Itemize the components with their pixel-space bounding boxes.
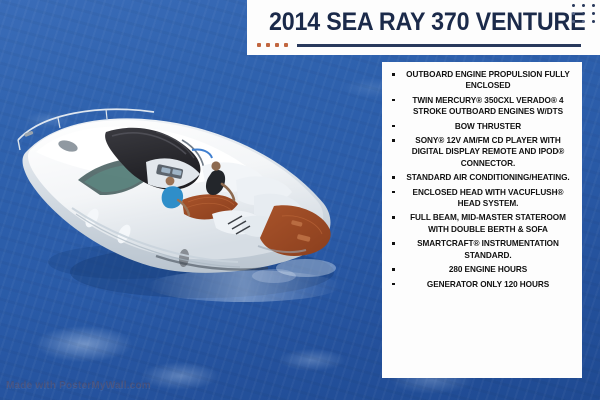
accent-dot <box>275 43 279 47</box>
grid-dot <box>592 4 595 7</box>
page-title: 2014 SEA RAY 370 VENTURE <box>269 8 555 36</box>
list-item: FULL BEAM, MID-MASTER STATEROOM WITH DOU… <box>386 212 576 235</box>
list-item: GENERATOR ONLY 120 HOURS <box>386 279 576 290</box>
title-panel: 2014 SEA RAY 370 VENTURE <box>247 0 600 55</box>
list-item: TWIN MERCURY® 350CXL VERADO® 4 STROKE OU… <box>386 95 576 118</box>
grid-dot <box>572 12 575 15</box>
decorative-dot-grid <box>572 4 597 23</box>
grid-dot <box>592 20 595 23</box>
list-item: ENCLOSED HEAD WITH VACUFLUSH® HEAD SYSTE… <box>386 187 576 210</box>
list-item: 280 ENGINE HOURS <box>386 264 576 275</box>
boat-photo <box>6 96 362 308</box>
specifications-list: OUTBOARD ENGINE PROPULSION FULLY ENCLOSE… <box>386 69 576 290</box>
list-item: SMARTCRAFT® INSTRUMENTATION STANDARD. <box>386 238 576 261</box>
grid-dot <box>572 20 575 23</box>
accent-dot <box>284 43 288 47</box>
specifications-panel: OUTBOARD ENGINE PROPULSION FULLY ENCLOSE… <box>382 62 582 378</box>
accent-dot <box>257 43 261 47</box>
horizontal-rule <box>297 44 581 47</box>
grid-dot <box>582 20 585 23</box>
grid-dot <box>592 12 595 15</box>
poster-canvas: 2014 SEA RAY 370 VENTURE <box>0 0 600 400</box>
list-item: OUTBOARD ENGINE PROPULSION FULLY ENCLOSE… <box>386 69 576 92</box>
title-underline <box>257 43 581 47</box>
grid-dot <box>582 12 585 15</box>
accent-dot <box>266 43 270 47</box>
list-item: SONY® 12V AM/FM CD PLAYER WITH DIGITAL D… <box>386 135 576 169</box>
list-item: STANDARD AIR CONDITIONING/HEATING. <box>386 172 576 183</box>
grid-dot <box>582 4 585 7</box>
grid-dot <box>572 4 575 7</box>
list-item: BOW THRUSTER <box>386 121 576 132</box>
